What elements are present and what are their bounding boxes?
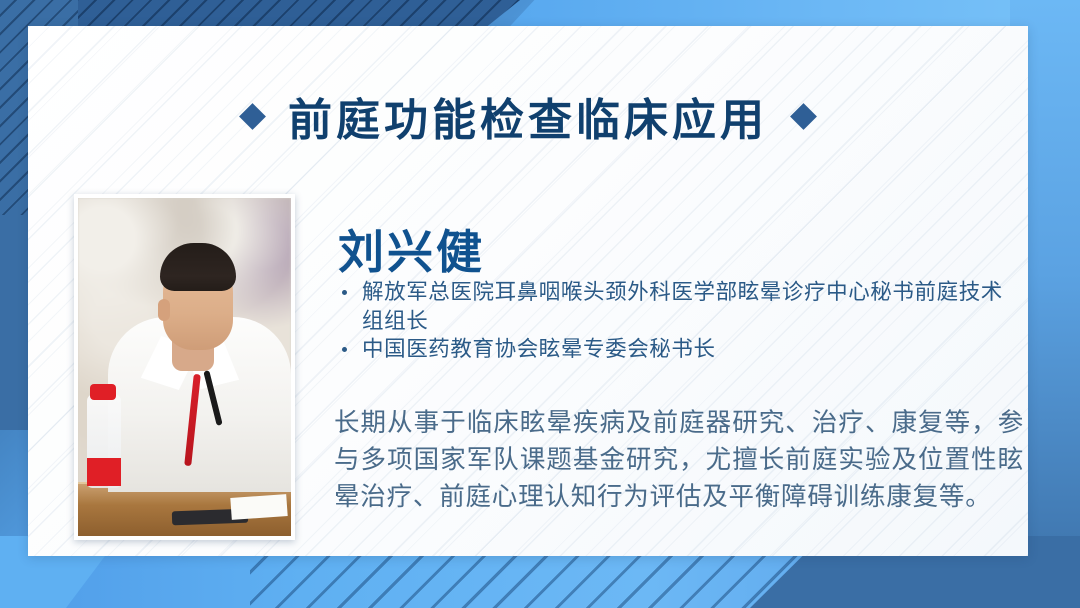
- photo-bottle-label: [87, 458, 121, 486]
- photo-paper-on-table: [230, 494, 287, 520]
- speaker-photo: [78, 198, 291, 536]
- speaker-credentials-list: 解放军总医院耳鼻咽喉头颈外科医学部眩晕诊疗中心秘书前庭技术组组长 中国医药教育协…: [334, 278, 1006, 364]
- photo-bottle-cap: [90, 384, 116, 400]
- speaker-biography: 长期从事于临床眩晕疾病及前庭器研究、治疗、康复等，参与多项国家军队课题基金研究，…: [334, 404, 1024, 516]
- photo-person-ear: [158, 299, 170, 321]
- presentation-slide: 前庭功能检查临床应用: [0, 0, 1080, 608]
- speaker-photo-frame: [74, 194, 295, 540]
- page-title: 前庭功能检查临床应用: [288, 84, 768, 148]
- list-item: 中国医药教育协会眩晕专委会秘书长: [334, 335, 1006, 364]
- diamond-right-icon: [790, 103, 817, 130]
- slide-title-row: 前庭功能检查临床应用: [28, 84, 1028, 148]
- content-card: 前庭功能检查临床应用: [28, 26, 1028, 556]
- speaker-name: 刘兴健: [338, 216, 485, 282]
- diamond-left-icon: [239, 103, 266, 130]
- list-item: 解放军总医院耳鼻咽喉头颈外科医学部眩晕诊疗中心秘书前庭技术组组长: [334, 278, 1006, 335]
